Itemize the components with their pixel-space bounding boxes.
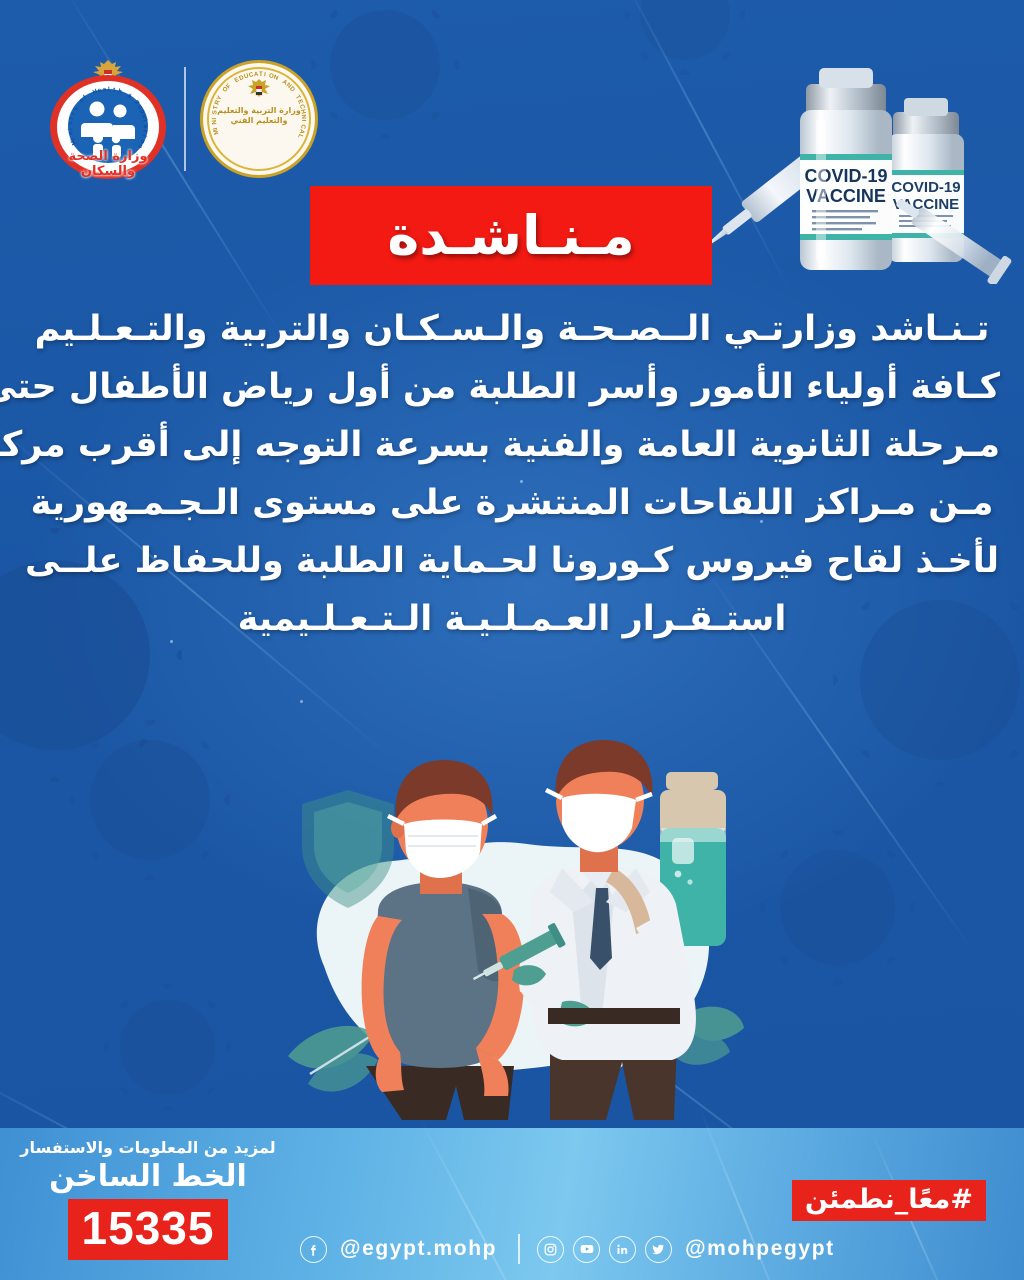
poster-root: Ministry of Health & Population وزارة ال… (0, 0, 1024, 1280)
logo-divider (184, 67, 186, 171)
body-line: تـنـاشد وزارتـي الــصـحـة والـسـكـان وال… (24, 300, 1000, 358)
hotline-more-info: لمزيد من المعلومات والاستفسار (18, 1138, 278, 1158)
twitter-icon[interactable] (645, 1236, 672, 1263)
title-banner: مـنـاشـدة (310, 186, 712, 285)
ministry-of-health-logo: Ministry of Health & Population وزارة ال… (46, 57, 170, 181)
logo-arabic-line2: والتعليم الفني (214, 116, 304, 126)
svg-text:COVID-19: COVID-19 (891, 179, 960, 196)
virus-silhouette (120, 1000, 215, 1095)
facebook-icon[interactable] (300, 1236, 327, 1263)
social-divider (518, 1234, 520, 1264)
campaign-hashtag[interactable]: #معًا_نطمئن (792, 1180, 986, 1221)
logo-arabic-text: وزارة التربية والتعليم والتعليم الفني (214, 106, 304, 126)
appeal-body-text: تـنـاشد وزارتـي الــصـحـة والـسـكـان وال… (24, 300, 1000, 648)
virus-silhouette (90, 740, 210, 860)
body-line: مـن مـراكز اللقاحات المنتشرة على مستوى ا… (24, 474, 1000, 532)
vaccine-vial-primary: COVID-19 VACCINE (800, 68, 892, 270)
body-line: كـافة أولياء الأمور وأسر الطلبة من أول ر… (24, 358, 1000, 416)
body-line: استـقـرار العـمـلـيـة الـتـعـلـيمية (24, 590, 1000, 648)
logo-arabic-text: وزارة الصحة والسكان (46, 149, 170, 179)
virus-silhouette (780, 850, 895, 965)
vaccination-scene-illustration (262, 716, 762, 1120)
body-line: لأخـذ لقاح فيروس كـورونا لحـماية الطلبة … (24, 532, 1000, 590)
instagram-icon[interactable] (537, 1236, 564, 1263)
virus-silhouette (330, 10, 440, 120)
eagle-emblem-icon (246, 78, 272, 104)
ministry-logos: Ministry of Health & Population وزارة ال… (46, 57, 318, 181)
leaf-decoration (288, 1026, 378, 1092)
body-line: مـرحلة الثانوية العامة والفنية بسرعة الت… (24, 416, 1000, 474)
youtube-icon[interactable] (573, 1236, 600, 1263)
hotline-label: الخط الساخن (18, 1159, 278, 1195)
linkedin-icon[interactable] (609, 1236, 636, 1263)
ministry-of-education-logo: MINISTRY OF EDUCATION AND TECHNICAL وزار… (200, 60, 318, 178)
hotline-block: لمزيد من المعلومات والاستفسار الخط الساخ… (18, 1138, 278, 1260)
shared-social-handle[interactable]: @mohpegypt (685, 1237, 835, 1261)
social-media-bar: @egypt.mohp (300, 1234, 839, 1264)
facebook-handle[interactable]: @egypt.mohp (340, 1237, 497, 1261)
sparkle-dot (300, 700, 303, 703)
footer-bar: لمزيد من المعلومات والاستفسار الخط الساخ… (0, 1128, 1024, 1280)
hotline-number[interactable]: 15335 (68, 1199, 229, 1260)
covid-vaccine-vials-illustration: COVID-19 VACCINE COVID-19 VACCINE (666, 34, 1016, 284)
page-title: مـنـاشـدة (387, 204, 634, 267)
logo-arabic-line1: وزارة التربية والتعليم (214, 106, 304, 116)
